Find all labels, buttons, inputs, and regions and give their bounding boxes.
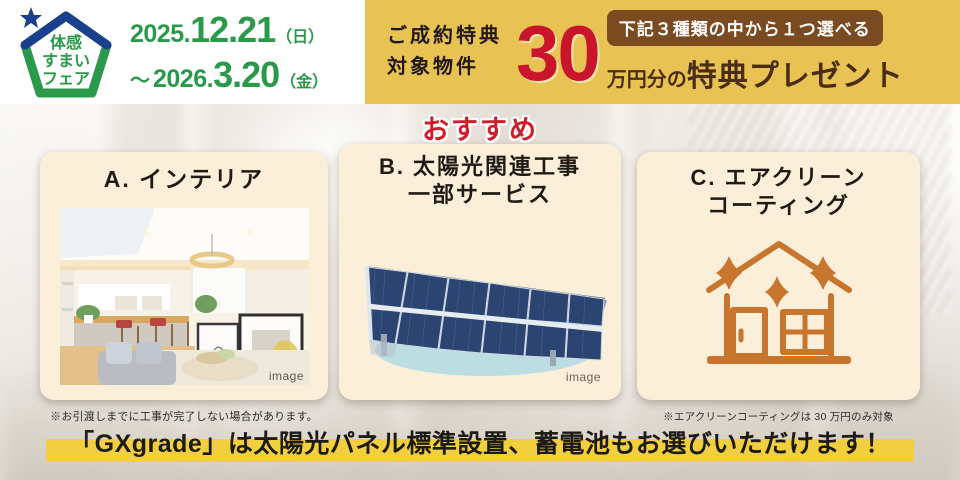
option-card-b[interactable]: おすすめ B. 太陽光関連工事 一部サービス bbox=[339, 144, 621, 400]
option-card-a[interactable]: A. インテリア bbox=[40, 152, 328, 400]
fair-dates: 2025. 12.21 （日） ～ 2026. 3.20 （金） bbox=[124, 12, 334, 93]
offer-amount: 30 bbox=[516, 14, 599, 92]
fair-logo: 体感 すまい フェア bbox=[14, 4, 118, 100]
image-label-b: image bbox=[566, 370, 601, 384]
sparkle-icons bbox=[716, 256, 836, 308]
logo-text-line2: すまい bbox=[42, 52, 90, 70]
date-start-year: 2025. bbox=[130, 22, 190, 47]
offer-unit: 万円分の bbox=[607, 63, 687, 92]
offer-banner: ご成約特典 対象物件 30 下記３種類の中から１つ選べる 万円分の 特典プレゼン… bbox=[365, 0, 960, 104]
footer-message: 「GXgrade」は太陽光パネル標準設置、蓄電池もお選びいただけます！ bbox=[0, 424, 960, 460]
interior-photo: image bbox=[60, 208, 309, 385]
footer-bar: 「GXgrade」は太陽光パネル標準設置、蓄電池もお選びいただけます！ bbox=[0, 414, 960, 480]
date-end-year: 2026. bbox=[153, 67, 213, 92]
option-c-title-line1: C. エアクリーン bbox=[637, 164, 920, 192]
option-a-title: A. インテリア bbox=[40, 152, 328, 194]
offer-label-line2: 対象物件 bbox=[387, 52, 502, 83]
offer-right-block: 下記３種類の中から１つ選べる 万円分の 特典プレゼント bbox=[607, 10, 904, 95]
option-card-c[interactable]: C. エアクリーン コーティング bbox=[637, 152, 920, 400]
star-icon bbox=[20, 7, 42, 28]
date-end-row: ～ 2026. 3.20 （金） bbox=[130, 57, 334, 93]
offer-tail: 万円分の 特典プレゼント bbox=[607, 51, 904, 95]
date-end-dow: （金） bbox=[280, 75, 328, 91]
offer-labels: ご成約特典 対象物件 bbox=[387, 21, 502, 83]
date-start-day: 12.21 bbox=[190, 12, 275, 48]
date-start-row: 2025. 12.21 （日） bbox=[130, 12, 334, 48]
option-b-title: B. 太陽光関連工事 一部サービス bbox=[339, 144, 621, 208]
option-c-title: C. エアクリーン コーティング bbox=[637, 152, 920, 219]
offer-choice-pill: 下記３種類の中から１つ選べる bbox=[607, 10, 883, 46]
clean-house-icon bbox=[699, 228, 859, 378]
header-bar: 体感 すまい フェア 2025. 12.21 （日） ～ 2026. 3.20 … bbox=[0, 0, 960, 104]
offer-label-line1: ご成約特典 bbox=[387, 21, 502, 52]
logo-text-line3: フェア bbox=[42, 71, 90, 88]
date-start-dow: （日） bbox=[276, 30, 324, 46]
date-end-day: 3.20 bbox=[213, 57, 279, 93]
option-c-title-line2: コーティング bbox=[637, 192, 920, 220]
option-b-title-line1: B. 太陽光関連工事 bbox=[339, 153, 621, 181]
date-range-tilde: ～ bbox=[130, 71, 150, 91]
option-b-title-line2: 一部サービス bbox=[339, 181, 621, 209]
solar-panel-illustration: image bbox=[345, 222, 615, 392]
recommended-badge: おすすめ bbox=[339, 108, 621, 147]
logo-text-line1: 体感 bbox=[50, 33, 82, 52]
house-door-icon bbox=[733, 310, 765, 356]
image-label-a: image bbox=[269, 369, 304, 383]
banner-root: 体感 すまい フェア 2025. 12.21 （日） ～ 2026. 3.20 … bbox=[0, 0, 960, 480]
header-left: 体感 すまい フェア 2025. 12.21 （日） ～ 2026. 3.20 … bbox=[0, 0, 365, 104]
offer-present-text: 特典プレゼント bbox=[687, 51, 904, 95]
